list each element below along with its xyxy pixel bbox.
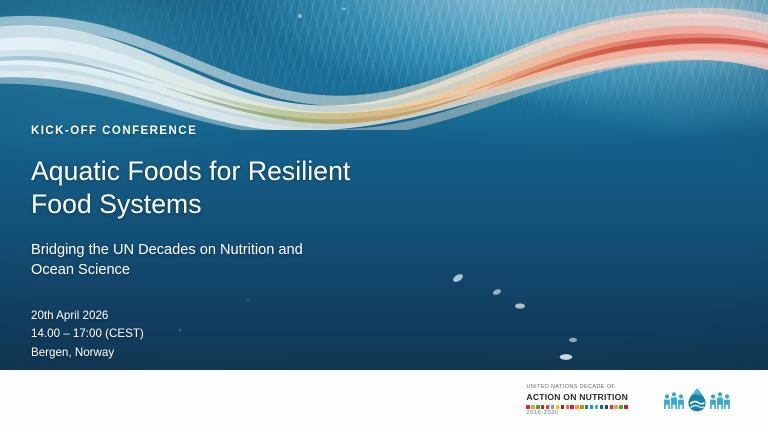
water-drop-icon bbox=[688, 388, 705, 411]
sdg-color-dot bbox=[570, 405, 573, 408]
page-title-line-1: Aquatic Foods for Resilient bbox=[31, 156, 350, 186]
page-subtitle-line-2: Ocean Science bbox=[31, 262, 130, 278]
nutrition-logo-years: 2016-2030 bbox=[526, 410, 558, 417]
sdg-color-dot bbox=[580, 405, 583, 408]
nutrition-logo-top-line: UNITED NATIONS DECADE OF bbox=[526, 384, 615, 392]
sdg-color-dot bbox=[605, 405, 608, 408]
sdg-color-dot bbox=[575, 405, 578, 408]
sdg-color-dot bbox=[624, 405, 627, 408]
slide-text-block: KICK-OFF CONFERENCE Aquatic Foods for Re… bbox=[31, 126, 451, 363]
sdg-color-dots bbox=[526, 405, 627, 408]
eyebrow-label: KICK-OFF CONFERENCE bbox=[31, 126, 451, 138]
event-date: 20th April 2026 bbox=[31, 307, 451, 326]
ocean-water-people-logo bbox=[662, 386, 732, 416]
sdg-color-dot bbox=[566, 405, 569, 408]
un-decade-action-on-nutrition-logo: UNITED NATIONS DECADE OF ACTION ON NUTRI… bbox=[526, 384, 628, 417]
event-time: 14.00 – 17:00 (CEST) bbox=[31, 325, 451, 344]
sdg-color-dot bbox=[610, 405, 613, 408]
sdg-color-dot bbox=[600, 405, 603, 408]
nutrition-logo-main-line: ACTION ON NUTRITION bbox=[526, 392, 628, 403]
sdg-color-dot bbox=[619, 405, 622, 408]
event-location: Bergen, Norway bbox=[31, 344, 451, 363]
page-title: Aquatic Foods for Resilient Food Systems bbox=[31, 155, 371, 223]
footer-bar: UNITED NATIONS DECADE OF ACTION ON NUTRI… bbox=[0, 370, 768, 432]
page-title-line-2: Food Systems bbox=[31, 189, 202, 219]
sdg-color-dot bbox=[614, 405, 617, 408]
sdg-color-dot bbox=[526, 405, 529, 408]
sdg-color-dot bbox=[595, 405, 598, 408]
sdg-color-dot bbox=[531, 405, 534, 408]
color-wave-ribbon bbox=[0, 0, 768, 130]
sdg-color-dot bbox=[536, 405, 539, 408]
sdg-color-dot bbox=[561, 405, 564, 408]
sdg-color-dot bbox=[546, 405, 549, 408]
sdg-color-dot bbox=[541, 405, 544, 408]
page-subtitle-line-1: Bridging the UN Decades on Nutrition and bbox=[31, 242, 303, 258]
sdg-color-dot bbox=[556, 405, 559, 408]
sdg-color-dot bbox=[585, 405, 588, 408]
page-subtitle: Bridging the UN Decades on Nutrition and… bbox=[31, 240, 361, 280]
conference-slide: KICK-OFF CONFERENCE Aquatic Foods for Re… bbox=[0, 0, 768, 432]
sdg-color-dot bbox=[590, 405, 593, 408]
event-details: 20th April 2026 14.00 – 17:00 (CEST) Ber… bbox=[31, 307, 451, 363]
sdg-color-dot bbox=[551, 405, 554, 408]
